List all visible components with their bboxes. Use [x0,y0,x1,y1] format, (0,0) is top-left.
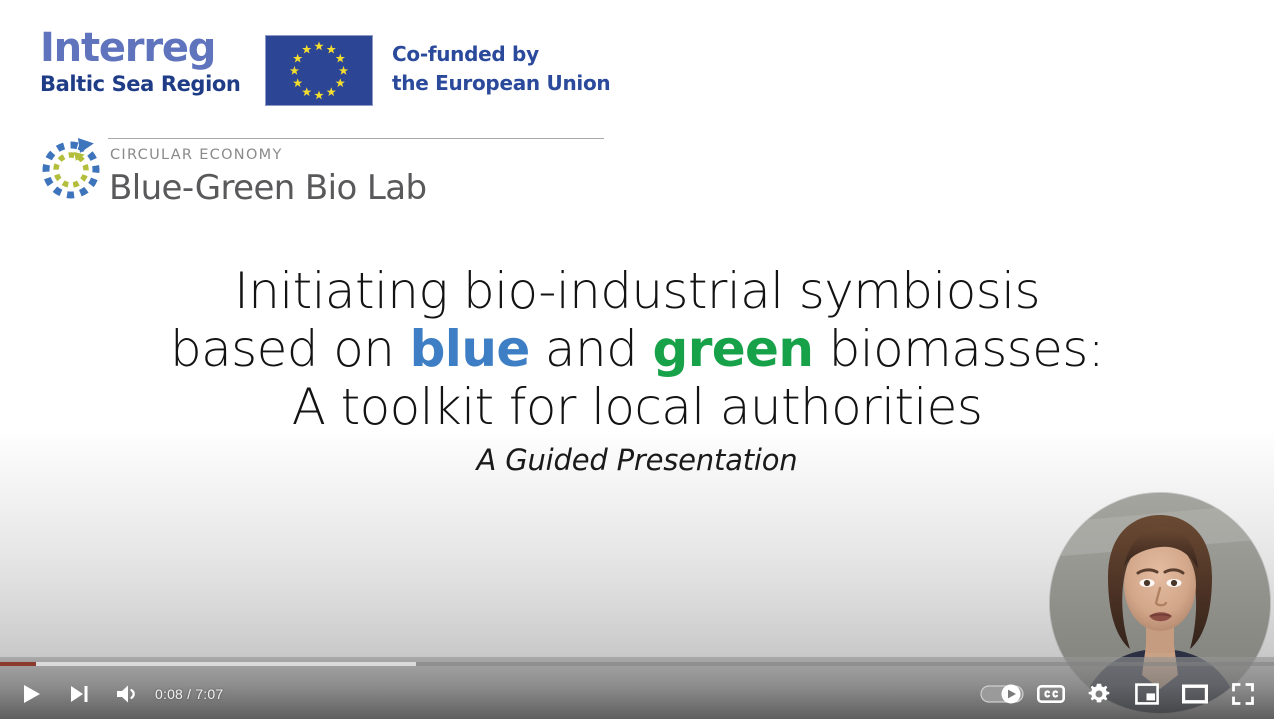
presentation-title: Initiating bio-industrial symbiosis base… [0,262,1274,436]
title-line-2-prefix: based on [170,320,410,378]
logo-divider [108,138,604,139]
autoplay-toggle[interactable] [978,669,1026,719]
title-line-1: Initiating bio-industrial symbiosis [0,262,1274,320]
progress-bar[interactable] [0,657,1274,669]
eu-stars [266,36,372,106]
circular-economy-icon [38,136,104,202]
theater-mode-icon [1182,684,1208,704]
miniplayer-button[interactable] [1128,669,1166,719]
volume-button[interactable] [108,669,146,719]
play-icon [18,681,44,707]
next-video-button[interactable] [60,669,98,719]
player-controls: 0:08 / 7:07 [0,657,1274,719]
next-track-icon [67,682,91,706]
autoplay-toggle-icon [980,683,1024,705]
miniplayer-icon [1135,683,1159,705]
title-line-3: A toolkit for local authorities [0,378,1274,436]
fullscreen-icon [1231,682,1255,706]
captions-button[interactable] [1032,669,1070,719]
circular-economy-eyebrow: CIRCULAR ECONOMY [110,147,283,163]
slide-content: Interreg Baltic Sea Region [0,0,1274,719]
theater-mode-button[interactable] [1176,669,1214,719]
control-button-row: 0:08 / 7:07 [0,669,1274,719]
keyword-blue: blue [410,320,530,378]
keyword-green: green [653,320,814,378]
blue-green-bio-lab-title: Blue-Green Bio Lab [109,168,426,208]
eu-flag-icon [265,35,373,106]
title-line-2-suffix: biomasses: [813,320,1104,378]
settings-button[interactable] [1080,669,1118,719]
blue-green-bio-lab-logo: CIRCULAR ECONOMY Blue-Green Bio Lab [38,133,638,215]
closed-captions-icon [1037,684,1065,704]
progress-loaded [0,662,416,666]
eu-funding-text: Co-funded by the European Union [392,40,610,98]
play-button[interactable] [12,669,50,719]
title-line-2: based on blue and green biomasses: [0,320,1274,378]
video-player: Interreg Baltic Sea Region [0,0,1274,719]
gear-icon [1087,682,1111,706]
presentation-subtitle: A Guided Presentation [0,443,1274,477]
progress-played [0,662,36,666]
volume-icon [114,682,140,706]
fullscreen-button[interactable] [1224,669,1262,719]
time-display: 0:08 / 7:07 [155,669,223,719]
title-line-2-mid: and [530,320,653,378]
